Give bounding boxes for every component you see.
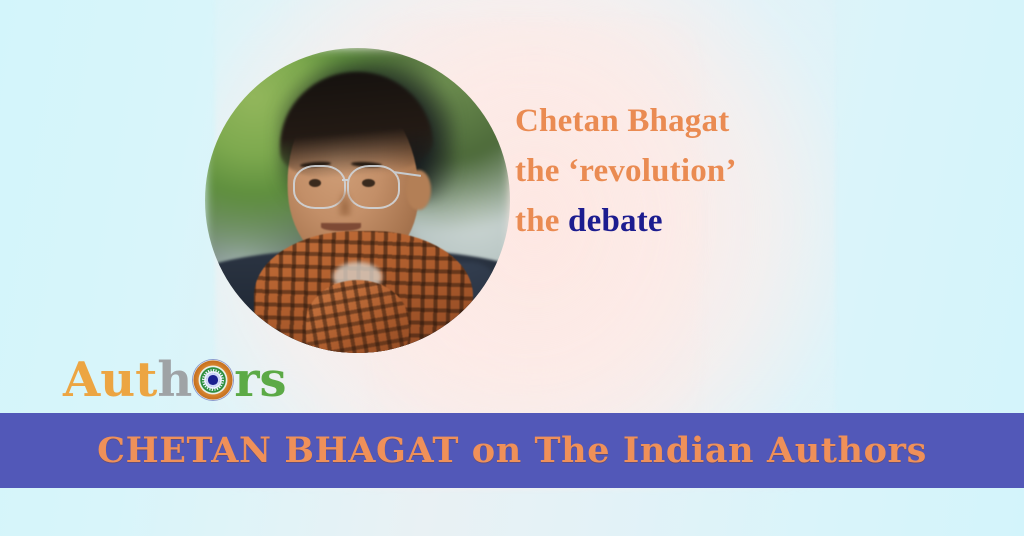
- glasses-lens-right-icon: [347, 165, 400, 209]
- portrait-nose: [336, 188, 354, 215]
- headline-line-1: Chetan Bhagat: [515, 96, 985, 146]
- headline-line-2: the ‘revolution’: [515, 146, 985, 196]
- portrait-photo: [205, 48, 510, 353]
- headline-block: Chetan Bhagat the ‘revolution’ the debat…: [515, 96, 985, 246]
- bottom-banner: CHETAN BHAGAT on The Indian Authors: [0, 413, 1024, 488]
- authors-logo[interactable]: Aut h rs: [63, 352, 287, 408]
- headline-line-3-prefix: the: [515, 203, 568, 239]
- logo-text-h: h: [157, 354, 192, 406]
- headline-line-3-accent: debate: [568, 203, 663, 239]
- chakra-hub: [208, 375, 218, 385]
- logo-text-aut: Aut: [63, 354, 157, 406]
- portrait-eye-right: [362, 179, 375, 187]
- headline-line-3: the debate: [515, 196, 985, 246]
- glasses-bridge-icon: [342, 179, 348, 181]
- banner-title: CHETAN BHAGAT on The Indian Authors: [97, 431, 927, 471]
- poster-canvas: Chetan Bhagat the ‘revolution’ the debat…: [0, 0, 1024, 536]
- logo-text-rs: rs: [234, 354, 286, 406]
- ashoka-chakra-icon: [193, 360, 233, 400]
